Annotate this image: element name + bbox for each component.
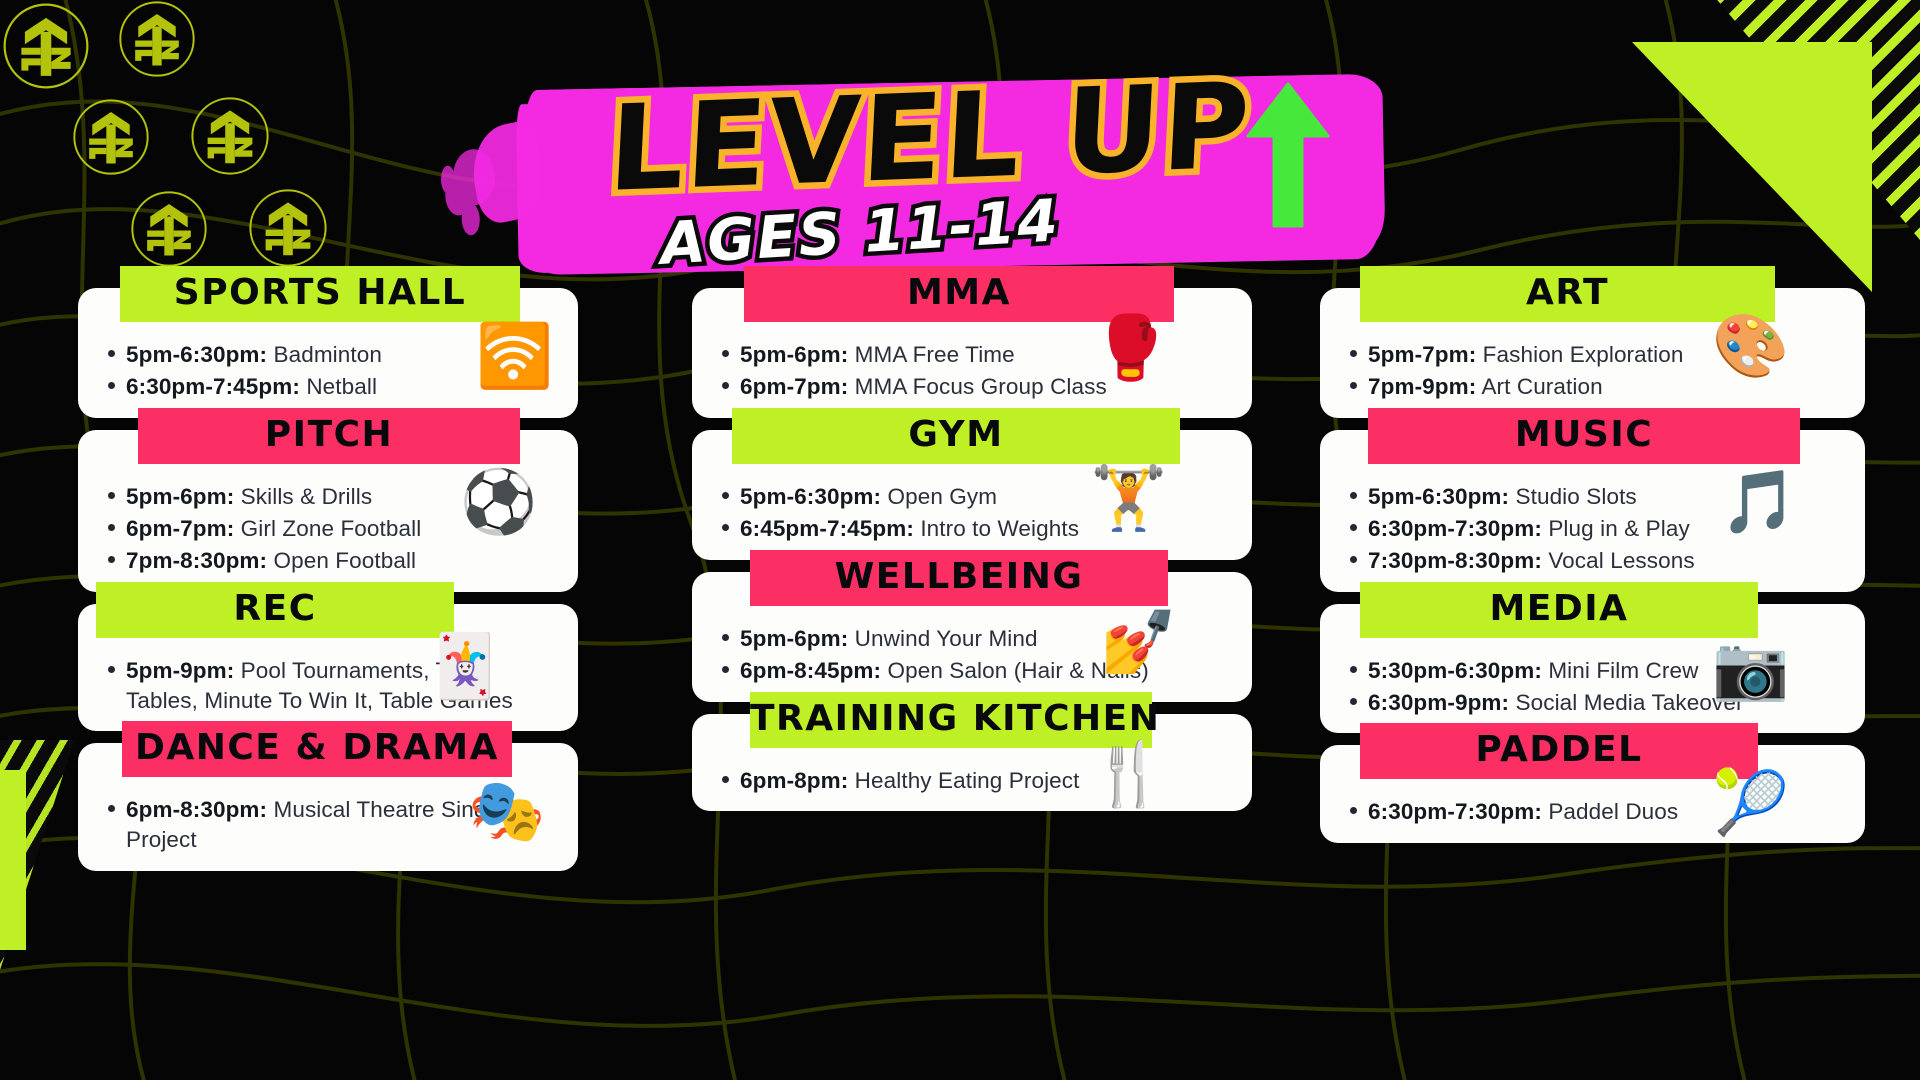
session-time: 5pm-6:30pm:: [1368, 484, 1509, 509]
roller-skate-icon: 🛜: [476, 326, 553, 388]
session-time: 7pm-8:30pm:: [126, 548, 267, 573]
card-title: REC: [96, 582, 454, 638]
session-time: 6:30pm-7:30pm:: [1368, 799, 1542, 824]
session-time: 5pm-6:30pm:: [740, 484, 881, 509]
activity-card[interactable]: 6pm-8:30pm: Musical Theatre Singing Proj…: [78, 743, 578, 871]
session-item: 7:30pm-8:30pm: Vocal Lessons: [1368, 546, 1841, 576]
activity-card[interactable]: 5pm-6pm: MMA Free Time6pm-7pm: MMA Focus…: [692, 288, 1252, 418]
session-time: 5pm-6pm:: [740, 626, 848, 651]
session-time: 5pm-6pm:: [740, 342, 848, 367]
activity-column-1: 5pm-6pm: MMA Free Time6pm-7pm: MMA Focus…: [692, 288, 1252, 823]
card-title: SPORTS HALL: [120, 266, 520, 322]
session-activity: Open Gym: [888, 484, 998, 509]
session-activity: Mini Film Crew: [1548, 658, 1698, 683]
session-time: 5:30pm-6:30pm:: [1368, 658, 1542, 683]
session-time: 6pm-7pm:: [740, 374, 848, 399]
session-activity: MMA Free Time: [855, 342, 1015, 367]
nail-polish-icon: 💅: [1100, 612, 1177, 674]
session-time: 5pm-6pm:: [126, 484, 234, 509]
session-activity: Plug in & Play: [1548, 516, 1689, 541]
poster-header: LEVEL UP AGES 11-14: [0, 0, 1920, 300]
session-time: 6pm-7pm:: [126, 516, 234, 541]
activity-card[interactable]: 5pm-9pm: Pool Tournaments, Topic Tables,…: [78, 604, 578, 732]
musical-notes-icon: 🎵: [1720, 472, 1797, 534]
left-green-bar-accent: [0, 770, 26, 950]
session-time: 7pm-9pm:: [1368, 374, 1476, 399]
session-item: 7pm-8:30pm: Open Football: [126, 546, 554, 576]
activity-card[interactable]: 5pm-6:30pm: Badminton6:30pm-7:45pm: Netb…: [78, 288, 578, 418]
session-activity: MMA Focus Group Class: [855, 374, 1107, 399]
session-time: 6:30pm-9pm:: [1368, 690, 1509, 715]
session-time: 6:30pm-7:45pm:: [126, 374, 300, 399]
session-time: 6pm-8pm:: [740, 768, 848, 793]
page-title: LEVEL UP: [557, 64, 1302, 209]
session-time: 6:45pm-7:45pm:: [740, 516, 914, 541]
card-title: DANCE & DRAMA: [122, 721, 512, 777]
camera-icon: 📷: [1712, 638, 1789, 700]
card-title: GYM: [732, 408, 1180, 464]
session-activity: Healthy Eating Project: [855, 768, 1080, 793]
session-activity: Girl Zone Football: [241, 516, 422, 541]
session-activity: Skills & Drills: [241, 484, 373, 509]
playing-cards-icon: 🃏: [426, 636, 503, 698]
session-activity: Fashion Exploration: [1483, 342, 1684, 367]
session-activity: Studio Slots: [1516, 484, 1637, 509]
session-activity: Paddel Duos: [1548, 799, 1678, 824]
activity-card[interactable]: 5pm-6pm: Skills & Drills6pm-7pm: Girl Zo…: [78, 430, 578, 592]
activity-column-0: 5pm-6:30pm: Badminton6:30pm-7:45pm: Netb…: [78, 288, 578, 883]
session-activity: Intro to Weights: [920, 516, 1079, 541]
activity-column-2: 5pm-7pm: Fashion Exploration7pm-9pm: Art…: [1320, 288, 1865, 855]
card-title: MUSIC: [1368, 408, 1800, 464]
session-activity: Badminton: [274, 342, 382, 367]
session-time: 5pm-7pm:: [1368, 342, 1476, 367]
paddle-racket-icon: 🎾: [1712, 773, 1789, 835]
activity-card[interactable]: 6:30pm-7:30pm: Paddel DuosPADDEL🎾: [1320, 745, 1865, 843]
session-activity: Open Football: [274, 548, 417, 573]
cutlery-icon: 🍴: [1090, 744, 1167, 806]
artist-palette-icon: 🎨: [1712, 316, 1789, 378]
card-title: MEDIA: [1360, 582, 1758, 638]
card-title: WELLBEING: [750, 550, 1168, 606]
activity-card[interactable]: 6pm-8pm: Healthy Eating ProjectTRAINING …: [692, 714, 1252, 812]
session-activity: Unwind Your Mind: [855, 626, 1038, 651]
session-time: 5pm-6:30pm:: [126, 342, 267, 367]
session-time: 5pm-9pm:: [126, 658, 234, 683]
boxing-glove-icon: 🥊: [1092, 318, 1169, 380]
up-arrow-icon: [1240, 80, 1336, 235]
activity-card[interactable]: 5pm-6:30pm: Studio Slots6:30pm-7:30pm: P…: [1320, 430, 1865, 592]
session-time: 6pm-8:30pm:: [126, 797, 267, 822]
activity-card[interactable]: 5pm-6:30pm: Open Gym6:45pm-7:45pm: Intro…: [692, 430, 1252, 560]
card-title: PITCH: [138, 408, 520, 464]
dumbbell-icon: 🏋️: [1090, 468, 1167, 530]
session-activity: Social Media Takeover: [1516, 690, 1744, 715]
session-time: 6:30pm-7:30pm:: [1368, 516, 1542, 541]
session-activity: Vocal Lessons: [1548, 548, 1694, 573]
activity-card[interactable]: 5:30pm-6:30pm: Mini Film Crew6:30pm-9pm:…: [1320, 604, 1865, 734]
theatre-masks-icon: 🎭: [468, 781, 545, 843]
football-icon: ⚽: [460, 472, 537, 534]
session-activity: Art Curation: [1481, 374, 1602, 399]
session-time: 7:30pm-8:30pm:: [1368, 548, 1542, 573]
card-title: PADDEL: [1360, 723, 1758, 779]
session-activity: Netball: [306, 374, 377, 399]
session-time: 6pm-8:45pm:: [740, 658, 881, 683]
activity-card[interactable]: 5pm-6pm: Unwind Your Mind6pm-8:45pm: Ope…: [692, 572, 1252, 702]
activity-card[interactable]: 5pm-7pm: Fashion Exploration7pm-9pm: Art…: [1320, 288, 1865, 418]
